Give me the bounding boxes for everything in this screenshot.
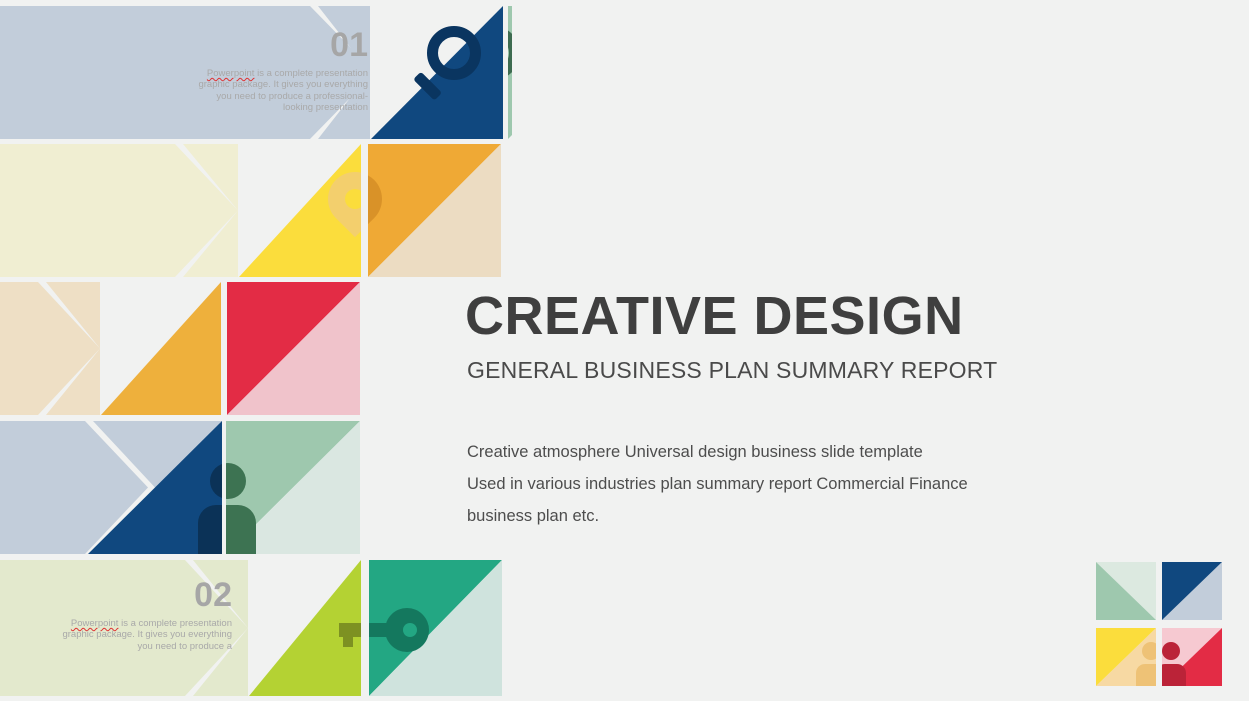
quad-cell-green <box>1096 562 1156 620</box>
row2-orange-block <box>368 144 501 277</box>
misspelled-word-01: Powerpoint <box>207 68 255 79</box>
person-icon-small <box>1162 642 1186 686</box>
mosaic-row-3 <box>0 282 512 415</box>
row2-yellow-triangle <box>239 144 361 277</box>
magnifier-shadow-icon <box>508 26 512 90</box>
location-pin-shadow-icon <box>328 172 361 244</box>
headline-group: CREATIVE DESIGN GENERAL BUSINESS PLAN SU… <box>465 288 1165 532</box>
page-subtitle: GENERAL BUSINESS PLAN SUMMARY REPORT <box>467 357 1165 384</box>
row3-red-block <box>227 282 360 415</box>
key-shadow-icon <box>339 608 361 652</box>
body-line-2: Used in various industries plan summary … <box>467 468 1042 500</box>
row1-navy-block <box>371 6 503 139</box>
row5-teal-block <box>369 560 502 696</box>
mosaic-row-1: 01 Powerpoint is a complete presentation… <box>0 6 512 139</box>
page-title: CREATIVE DESIGN <box>465 288 1165 345</box>
magnifier-icon <box>417 26 481 90</box>
mosaic-row-2 <box>0 144 512 277</box>
quad-cell-navy <box>1162 562 1222 620</box>
misspelled-word-02: Powerpoint <box>71 618 119 629</box>
quad-cell-red <box>1162 628 1222 686</box>
body-paragraph: Creative atmosphere Universal design bus… <box>467 436 1042 532</box>
mosaic-row-5: 02 Powerpoint is a complete presentation… <box>0 560 512 696</box>
body-line-1: Creative atmosphere Universal design bus… <box>467 436 1042 468</box>
corner-decoration <box>1096 562 1222 686</box>
location-pin-icon <box>368 172 382 244</box>
person-shadow-icon <box>198 463 222 554</box>
block-02-text: 02 Powerpoint is a complete presentation… <box>14 578 232 652</box>
row4-navy-triangle <box>88 421 222 554</box>
row5-lime-triangle <box>249 560 361 696</box>
person-icon <box>226 463 256 554</box>
block-02-number: 02 <box>14 578 232 612</box>
mosaic-row-4 <box>0 421 512 554</box>
row4-green-block <box>226 421 360 554</box>
row3-amber-triangle <box>101 282 221 415</box>
quad-cell-yellow <box>1096 628 1156 686</box>
row1-green-triangle <box>508 6 512 139</box>
block-01-text: 01 Powerpoint is a complete presentation… <box>150 28 368 113</box>
block-01-number: 01 <box>150 28 368 62</box>
key-icon <box>369 608 429 652</box>
body-line-3: business plan etc. <box>467 500 1042 532</box>
person-shadow-icon-small <box>1136 642 1156 686</box>
slide-canvas: 01 Powerpoint is a complete presentation… <box>0 0 1249 701</box>
